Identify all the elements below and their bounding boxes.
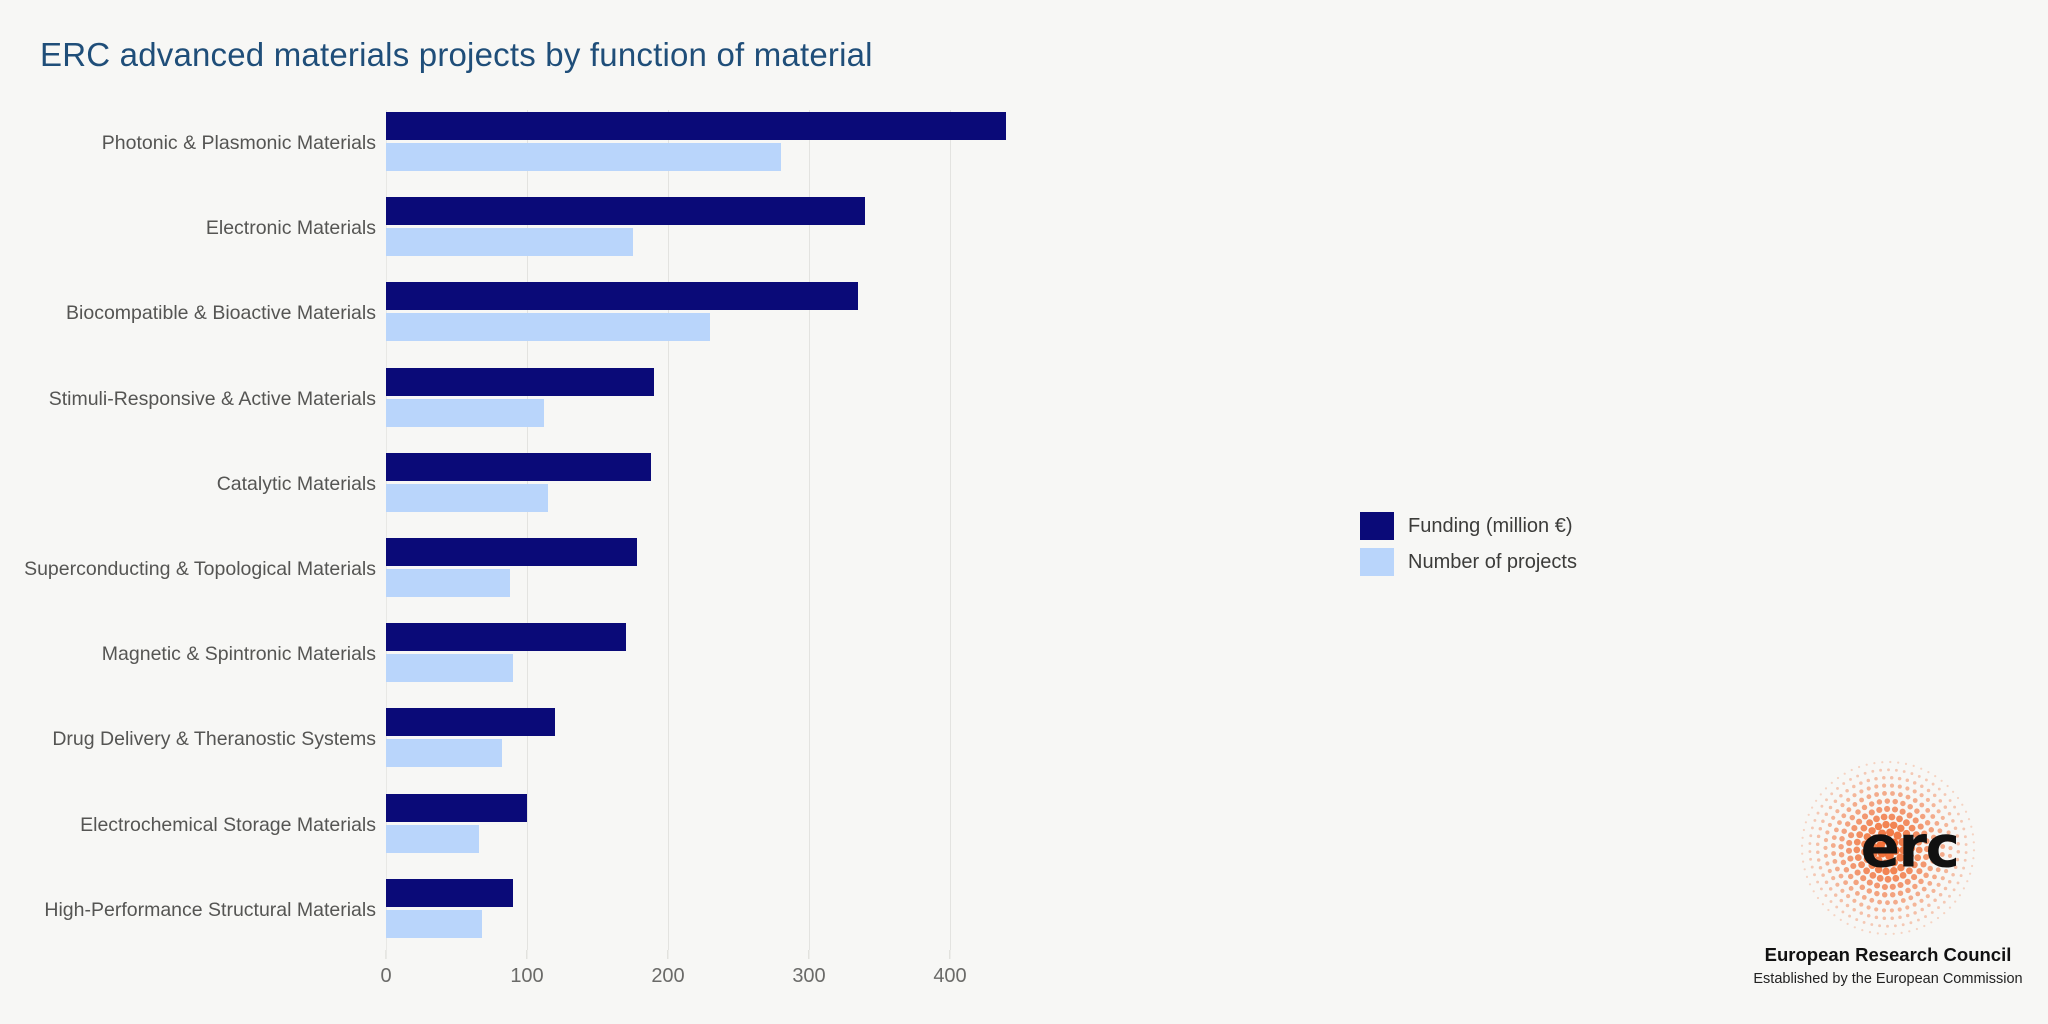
- bar-row: High-Performance Structural Materials: [386, 877, 1446, 951]
- category-label: Drug Delivery & Theranostic Systems: [52, 730, 376, 750]
- bar-row: Biocompatible & Bioactive Materials: [386, 280, 1446, 354]
- bar-funding[interactable]: [386, 112, 1006, 140]
- bar-rows: Photonic & Plasmonic MaterialsElectronic…: [386, 110, 1446, 962]
- bar-projects[interactable]: [386, 654, 513, 682]
- bar-funding[interactable]: [386, 538, 637, 566]
- chart-plot-area: Photonic & Plasmonic MaterialsElectronic…: [386, 110, 1446, 950]
- x-tick-0: 0: [380, 950, 391, 988]
- tick-mark: [950, 950, 951, 959]
- category-label: Catalytic Materials: [217, 475, 376, 495]
- tick-label: 200: [651, 965, 684, 988]
- tick-label: 400: [933, 965, 966, 988]
- category-label: Magnetic & Spintronic Materials: [102, 645, 376, 665]
- bar-projects[interactable]: [386, 228, 633, 256]
- tick-label: 300: [792, 965, 825, 988]
- tick-label: 100: [510, 965, 543, 988]
- erc-wordmark: erc: [1861, 813, 1959, 881]
- x-axis: 0100200300400: [386, 950, 1446, 1010]
- bar-projects[interactable]: [386, 825, 479, 853]
- category-label: Superconducting & Topological Materials: [24, 560, 376, 580]
- bar-row: Superconducting & Topological Materials: [386, 536, 1446, 610]
- bar-projects[interactable]: [386, 910, 482, 938]
- tick-label: 0: [380, 965, 391, 988]
- bar-row: Electronic Materials: [386, 195, 1446, 269]
- category-label: Electrochemical Storage Materials: [80, 816, 376, 836]
- x-tick-400: 400: [933, 950, 966, 988]
- bar-funding[interactable]: [386, 708, 555, 736]
- bar-row: Magnetic & Spintronic Materials: [386, 621, 1446, 695]
- bar-projects[interactable]: [386, 399, 544, 427]
- erc-logo: erc European Research Council Establishe…: [1738, 758, 2038, 987]
- bar-projects[interactable]: [386, 569, 510, 597]
- category-label: Stimuli-Responsive & Active Materials: [49, 390, 376, 410]
- page-title: ERC advanced materials projects by funct…: [40, 36, 873, 74]
- legend-label-projects: Number of projects: [1408, 551, 1577, 574]
- bar-funding[interactable]: [386, 197, 865, 225]
- category-label: Photonic & Plasmonic Materials: [102, 134, 376, 154]
- bar-funding[interactable]: [386, 794, 527, 822]
- x-tick-200: 200: [651, 950, 684, 988]
- bar-funding[interactable]: [386, 453, 651, 481]
- legend-item-funding[interactable]: Funding (million €): [1360, 512, 1577, 540]
- bar-funding[interactable]: [386, 623, 626, 651]
- tick-mark: [809, 950, 810, 959]
- bar-row: Photonic & Plasmonic Materials: [386, 110, 1446, 184]
- erc-subtitle: Established by the European Commission: [1738, 971, 2038, 987]
- bar-funding[interactable]: [386, 879, 513, 907]
- tick-mark: [668, 950, 669, 959]
- bar-row: Drug Delivery & Theranostic Systems: [386, 706, 1446, 780]
- bar-row: Stimuli-Responsive & Active Materials: [386, 366, 1446, 440]
- category-label: High-Performance Structural Materials: [44, 901, 376, 921]
- bar-projects[interactable]: [386, 739, 502, 767]
- bar-row: Electrochemical Storage Materials: [386, 792, 1446, 866]
- erc-name: European Research Council: [1738, 944, 2038, 966]
- erc-dot-circle-icon: erc: [1798, 758, 1978, 938]
- legend-label-funding: Funding (million €): [1408, 515, 1573, 538]
- bar-funding[interactable]: [386, 368, 654, 396]
- bar-projects[interactable]: [386, 143, 781, 171]
- x-tick-100: 100: [510, 950, 543, 988]
- tick-mark: [527, 950, 528, 959]
- legend-swatch-projects: [1360, 548, 1394, 576]
- bar-funding[interactable]: [386, 282, 858, 310]
- bar-row: Catalytic Materials: [386, 451, 1446, 525]
- legend-swatch-funding: [1360, 512, 1394, 540]
- tick-mark: [386, 950, 387, 959]
- category-label: Biocompatible & Bioactive Materials: [66, 304, 376, 324]
- legend-item-projects[interactable]: Number of projects: [1360, 548, 1577, 576]
- bar-projects[interactable]: [386, 313, 710, 341]
- chart-legend: Funding (million €) Number of projects: [1360, 512, 1577, 584]
- category-label: Electronic Materials: [206, 219, 376, 239]
- x-tick-300: 300: [792, 950, 825, 988]
- bar-projects[interactable]: [386, 484, 548, 512]
